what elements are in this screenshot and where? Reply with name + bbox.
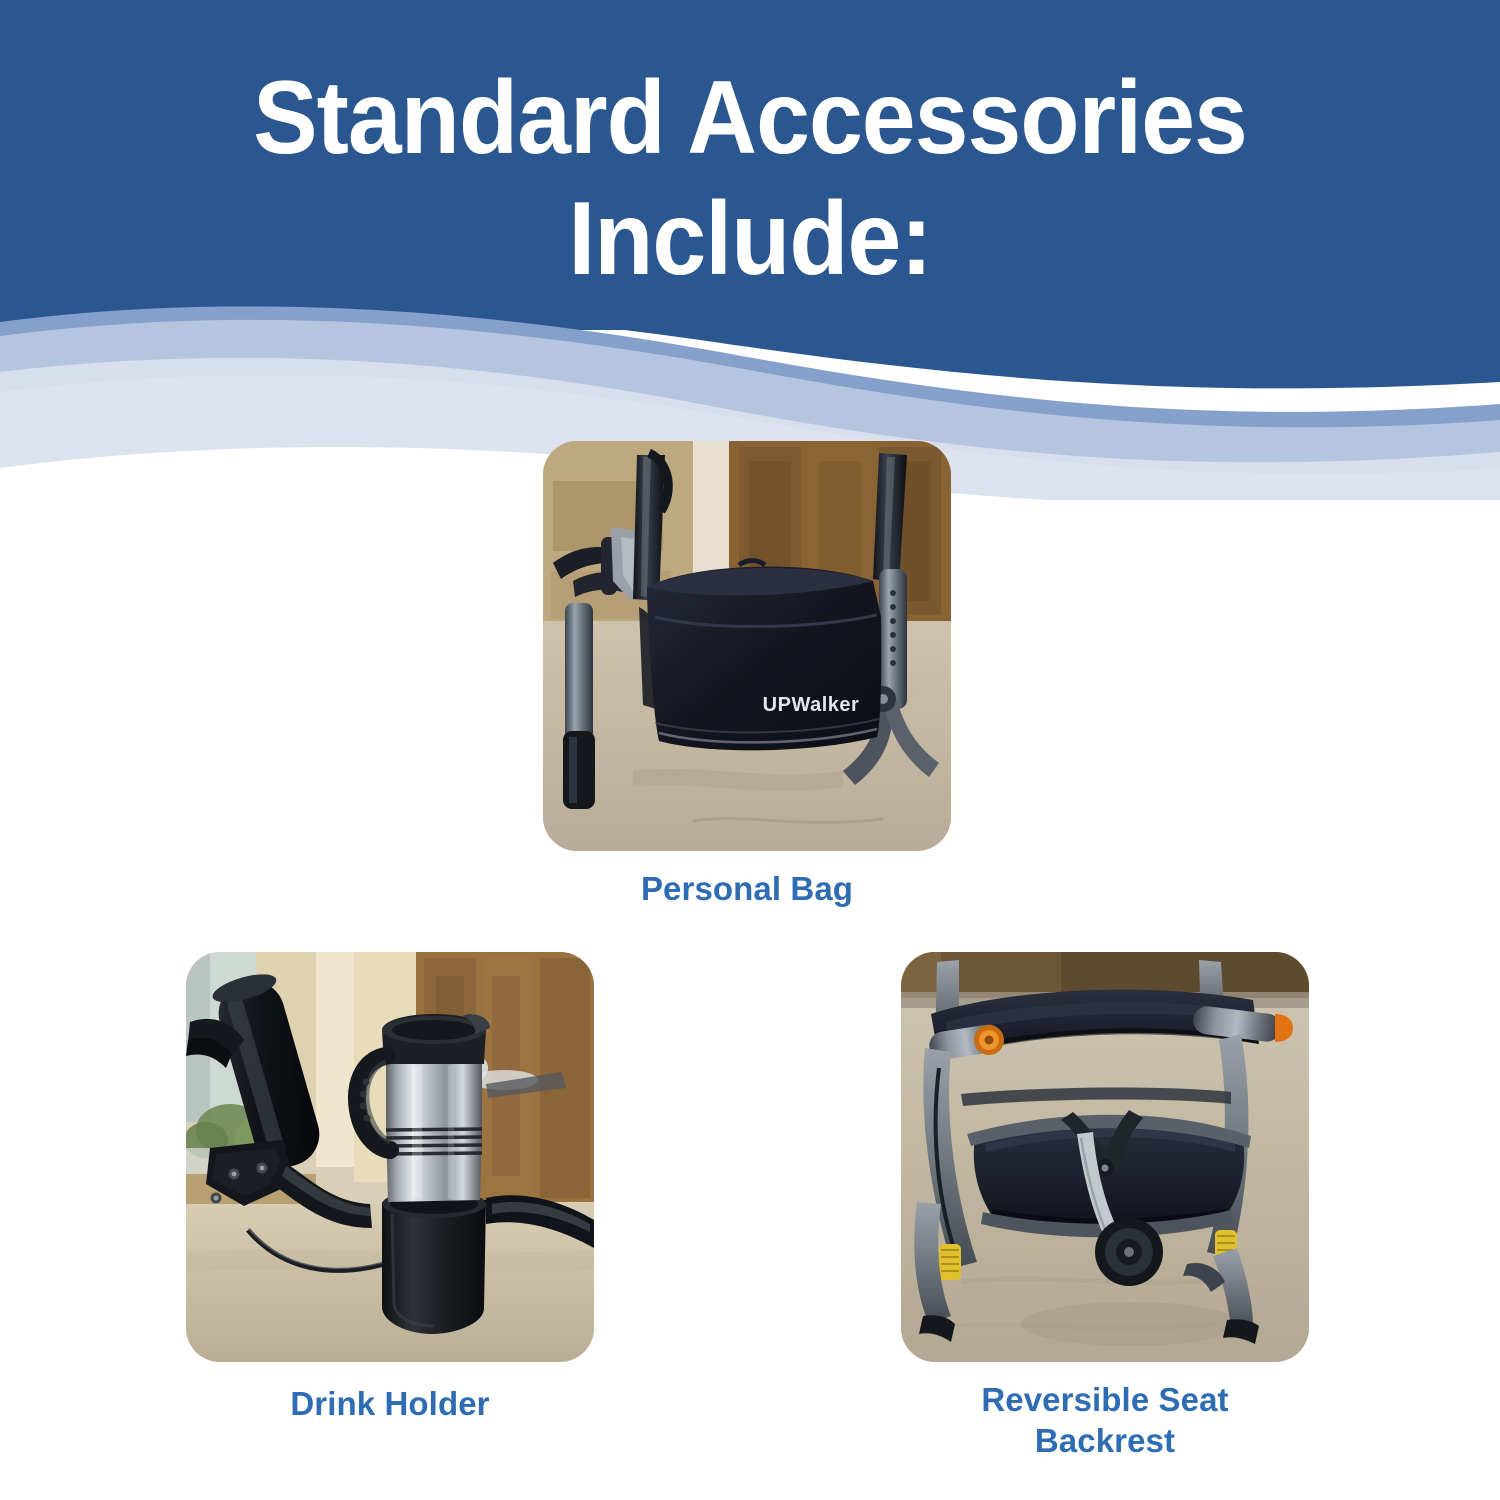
caption-drink-holder: Drink Holder: [190, 1383, 590, 1424]
accessory-card-personal-bag[interactable]: UPWalker: [543, 441, 951, 851]
product-logo-text: UPWalker: [763, 694, 860, 716]
drink-holder-photo: [186, 952, 594, 1362]
page-title: Standard Accessories Include:: [53, 58, 1448, 299]
reversible-seat-backrest-photo: [901, 952, 1309, 1362]
caption-personal-bag: Personal Bag: [547, 868, 947, 909]
accessories-infographic: Standard Accessories Include:: [0, 0, 1500, 1500]
personal-bag-photo: UPWalker: [543, 441, 951, 851]
accessory-card-drink-holder[interactable]: [186, 952, 594, 1362]
accessory-card-reversible-seat-backrest[interactable]: [901, 952, 1309, 1362]
caption-reversible-seat-backrest: Reversible Seat Backrest: [905, 1379, 1305, 1462]
header-banner: Standard Accessories Include:: [0, 0, 1500, 500]
